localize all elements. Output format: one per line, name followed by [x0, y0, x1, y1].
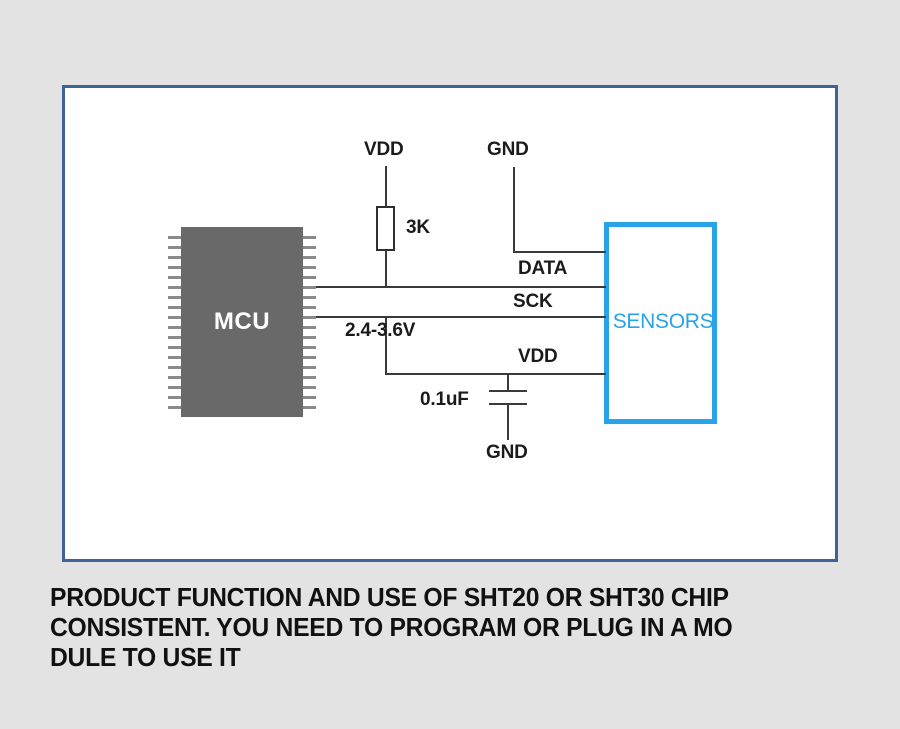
mcu-pin-right: [303, 396, 316, 399]
wire-cap-to-gnd: [507, 404, 509, 440]
mcu-pin-right: [303, 336, 316, 339]
mcu-pin-left: [168, 246, 181, 249]
mcu-pin-left: [168, 296, 181, 299]
mcu-pin-left: [168, 256, 181, 259]
mcu-pin-left: [168, 386, 181, 389]
caption-line-3: DULE TO USE IT: [50, 642, 810, 672]
wire-gnd-top-run: [513, 251, 606, 253]
mcu-chip: MCU: [181, 227, 303, 417]
mcu-pin-right: [303, 286, 316, 289]
mcu-pin-right: [303, 296, 316, 299]
caption-line-2: CONSISTENT. YOU NEED TO PROGRAM OR PLUG …: [50, 612, 810, 642]
mcu-pin-right: [303, 386, 316, 389]
label-supply-range: 2.4-3.6V: [345, 320, 415, 342]
mcu-pin-left: [168, 266, 181, 269]
mcu-pin-right: [303, 256, 316, 259]
caption: PRODUCT FUNCTION AND USE OF SHT20 OR SHT…: [50, 582, 810, 672]
label-gnd-bottom: GND: [486, 442, 528, 464]
mcu-pin-left: [168, 236, 181, 239]
wire-cap-tap: [507, 373, 509, 391]
mcu-pin-right: [303, 316, 316, 319]
mcu-pin-left: [168, 376, 181, 379]
wire-sck: [316, 316, 606, 318]
sensors-label: SENSORS: [604, 310, 722, 334]
diagram-page: MCU SENSORS VDD GND 3K DATA SCK 2.4-3.6V…: [0, 0, 900, 729]
mcu-pin-left: [168, 406, 181, 409]
mcu-pin-right: [303, 376, 316, 379]
caption-line-1: PRODUCT FUNCTION AND USE OF SHT20 OR SHT…: [50, 582, 810, 612]
mcu-pin-left: [168, 276, 181, 279]
mcu-pin-right: [303, 266, 316, 269]
mcu-pin-right: [303, 406, 316, 409]
mcu-pin-left: [168, 366, 181, 369]
mcu-pin-right: [303, 276, 316, 279]
mcu-pin-right: [303, 356, 316, 359]
mcu-pin-left: [168, 326, 181, 329]
mcu-pin-right: [303, 246, 316, 249]
mcu-pin-left: [168, 396, 181, 399]
mcu-pin-left: [168, 336, 181, 339]
label-vdd-supply: VDD: [518, 346, 558, 368]
label-data: DATA: [518, 258, 567, 280]
label-gnd-top: GND: [487, 139, 529, 161]
mcu-pin-left: [168, 306, 181, 309]
mcu-label: MCU: [214, 308, 270, 336]
label-resistor-value: 3K: [406, 217, 430, 239]
label-vdd-top: VDD: [364, 139, 404, 161]
mcu-pin-left: [168, 316, 181, 319]
mcu-pin-right: [303, 346, 316, 349]
resistor-symbol: [376, 206, 395, 251]
mcu-pin-right: [303, 366, 316, 369]
mcu-pin-right: [303, 236, 316, 239]
label-sck: SCK: [513, 291, 553, 313]
wire-vdd-run: [385, 373, 606, 375]
label-capacitor-value: 0.1uF: [420, 389, 469, 411]
wire-resistor-to-data: [385, 250, 387, 287]
wire-gnd-top-drop: [513, 167, 515, 253]
capacitor-plate-top: [489, 390, 527, 392]
wire-vdd-to-resistor: [385, 166, 387, 207]
mcu-pin-right: [303, 326, 316, 329]
wire-data: [316, 286, 606, 288]
mcu-pin-left: [168, 356, 181, 359]
mcu-pin-left: [168, 346, 181, 349]
mcu-pin-right: [303, 306, 316, 309]
mcu-pin-left: [168, 286, 181, 289]
